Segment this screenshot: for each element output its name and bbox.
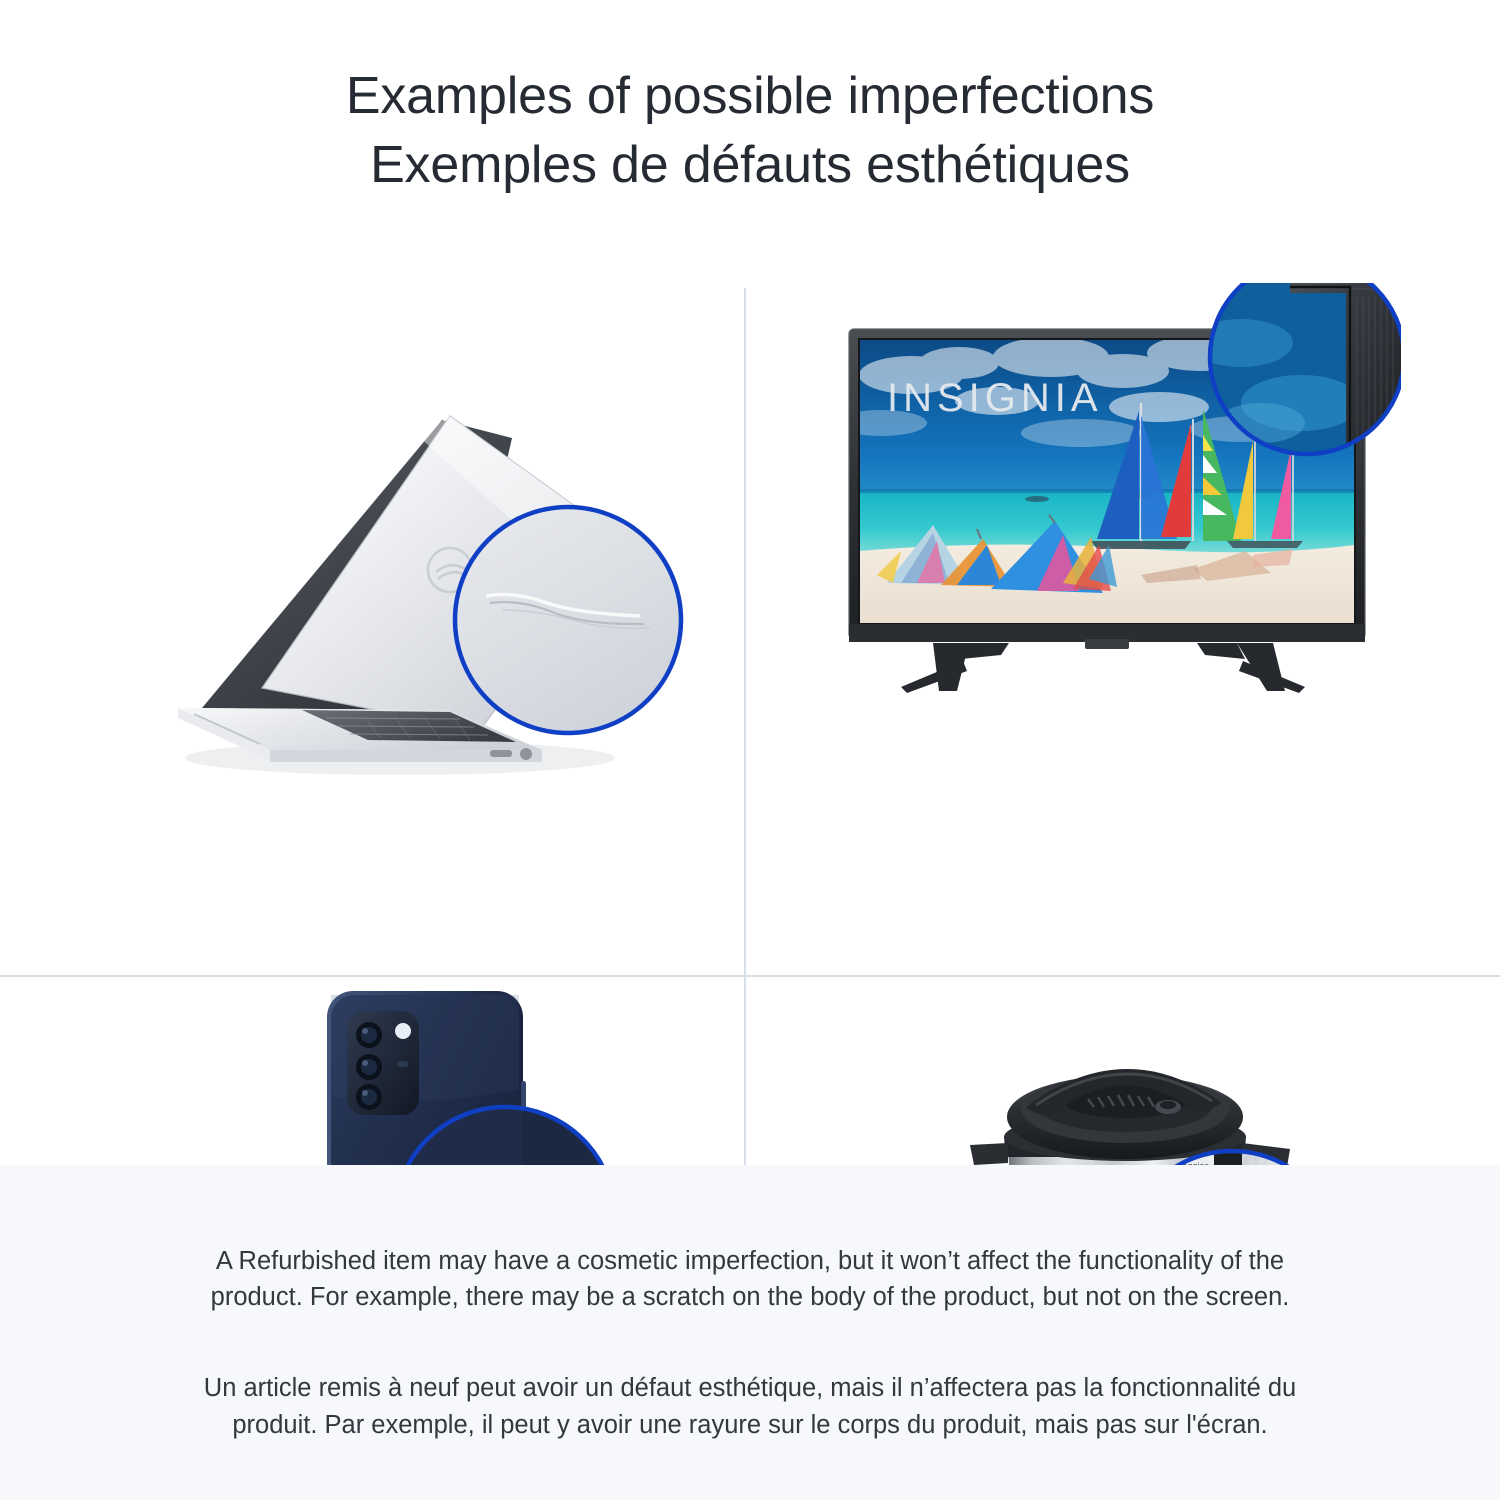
laptop-audio-jack <box>520 748 532 760</box>
example-tile-pressure-cooker: INSIGNIA 8:00 8:00 <box>746 977 1500 1165</box>
laptop-illustration <box>150 358 710 838</box>
description-paragraph-fr: Un article remis à neuf peut avoir un dé… <box>170 1370 1330 1442</box>
television-illustration: INSIGNIA <box>841 283 1401 703</box>
tv-logo-bump <box>1085 639 1129 649</box>
refurbished-imperfections-infographic: Examples of possible imperfections Exemp… <box>0 0 1500 1500</box>
scratch-magnifier-laptop <box>455 507 681 733</box>
example-tile-smartphone <box>0 977 744 1165</box>
examples-grid: INSIGNIA <box>0 258 1500 1165</box>
phone-camera-module <box>347 1011 419 1115</box>
page-header: Examples of possible imperfections Exemp… <box>0 0 1500 258</box>
footer-description-panel: A Refurbished item may have a cosmetic i… <box>0 1165 1500 1500</box>
description-paragraph-en: A Refurbished item may have a cosmetic i… <box>170 1243 1330 1315</box>
page-title-fr: Exemples de défauts esthétiques <box>370 131 1130 200</box>
tv-screen-brand-text: INSIGNIA <box>887 376 1103 420</box>
example-tile-laptop <box>0 258 744 975</box>
example-tile-television: INSIGNIA <box>746 258 1500 975</box>
phone-camera-flash <box>395 1023 411 1039</box>
tv-stand-feet <box>901 643 1305 693</box>
page-title-en: Examples of possible imperfections <box>346 62 1154 131</box>
laptop-usb-port <box>490 750 512 757</box>
cooker-left-grip <box>970 1143 1008 1165</box>
